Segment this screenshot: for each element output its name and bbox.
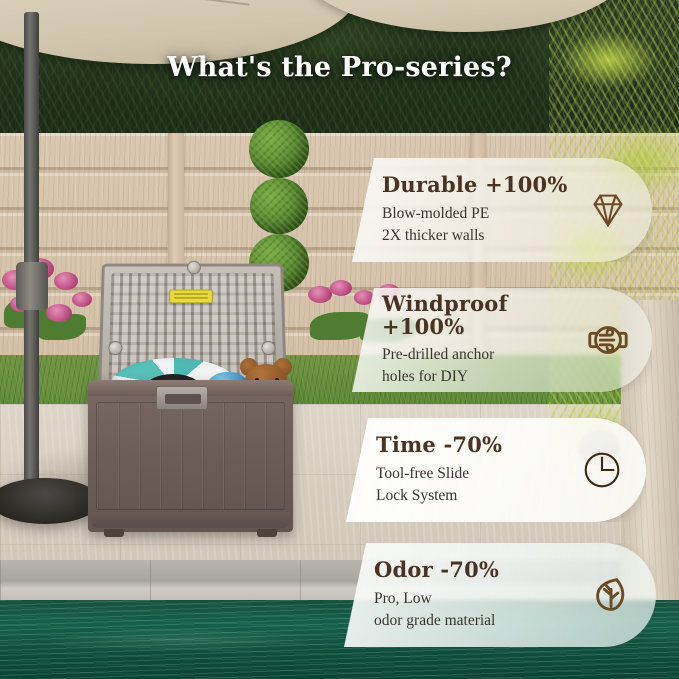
feature-card-windproof[interactable]: Windproof +100% Pre-drilled anchor holes… — [352, 288, 652, 392]
topiary-ball — [249, 120, 309, 178]
diamond-icon — [578, 180, 638, 240]
deck-box-body — [88, 380, 293, 532]
leaf-icon — [582, 565, 642, 625]
deck-box-foot — [257, 529, 277, 537]
deck-box-foot — [104, 529, 124, 537]
marketing-image: What's the Pro-series? Durable +100% Blo… — [0, 0, 679, 679]
feature-line-2: odor grade material — [374, 610, 582, 632]
feature-line-1: Blow-molded PE — [382, 203, 578, 225]
feature-line-2: Lock System — [376, 485, 572, 507]
feature-title: Time -70% — [376, 433, 572, 456]
warning-label — [169, 290, 213, 304]
page-title: What's the Pro-series? — [0, 52, 679, 83]
feature-line-1: Pre-drilled anchor — [382, 344, 578, 366]
deck-box-base — [92, 512, 289, 528]
feature-line-1: Tool-free Slide — [376, 463, 572, 485]
feature-line-1: Pro, Low — [374, 588, 582, 610]
umbrella-pole-joint — [16, 262, 48, 310]
feature-card-time[interactable]: Time -70% Tool-free Slide Lock System — [346, 418, 646, 522]
clock-icon — [572, 440, 632, 500]
feature-title: Windproof +100% — [382, 292, 578, 338]
lid-hinge — [187, 261, 201, 274]
feature-line-2: holes for DIY — [382, 366, 578, 388]
deck-box-latch — [156, 386, 208, 410]
umbrella-rib — [61, 0, 250, 6]
umbrella-pole — [24, 12, 39, 487]
feature-title: Durable +100% — [382, 173, 578, 196]
deck-box-panel — [96, 402, 285, 510]
wind-icon — [578, 310, 638, 370]
deck-box-product — [88, 262, 293, 532]
feature-title: Odor -70% — [374, 558, 582, 581]
feature-line-2: 2X thicker walls — [382, 225, 578, 247]
lid-hinge — [261, 341, 275, 355]
topiary-ball — [250, 178, 308, 234]
feature-card-durable[interactable]: Durable +100% Blow-molded PE 2X thicker … — [352, 158, 652, 262]
feature-card-odor[interactable]: Odor -70% Pro, Low odor grade material — [344, 543, 656, 647]
